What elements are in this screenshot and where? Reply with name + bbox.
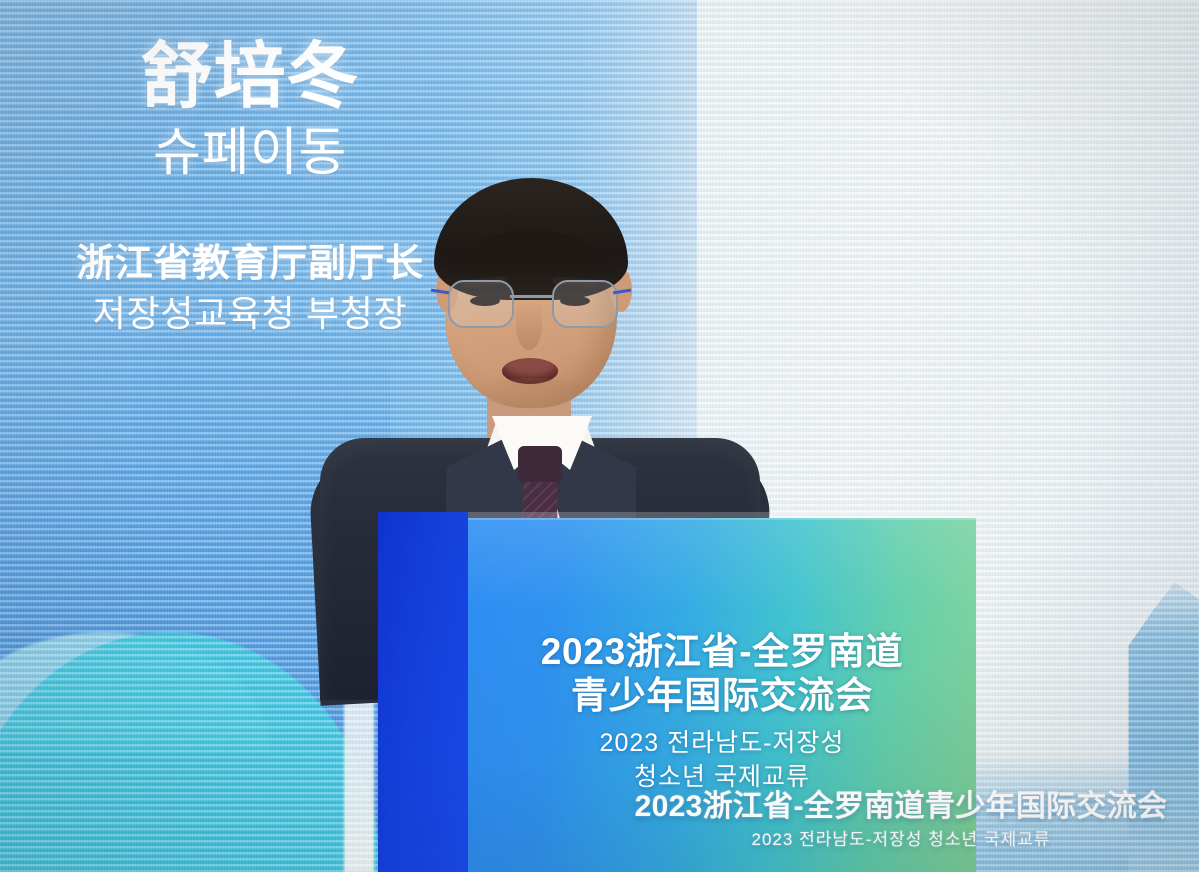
speaker-name-cn: 舒培冬	[0, 40, 500, 115]
necktie-knot	[518, 446, 562, 486]
watermark-line-cn: 2023浙江省-全罗南道青少年国际交流会	[611, 790, 1191, 825]
speaker-nose	[516, 302, 542, 350]
conference-photo: 舒培冬 슈페이동 浙江省教育厅副厅长 저장성교육청 부청장	[0, 0, 1199, 872]
eyeglass-bridge	[510, 295, 552, 298]
podium-event-title: 2023浙江省-全罗南道 青少年国际交流会 2023 전라남도-저장성 청소년 …	[468, 630, 976, 795]
podium-title-line1: 2023浙江省-全罗南道	[468, 630, 976, 674]
podium-top-edge	[468, 512, 976, 520]
watermark-line-kr: 2023 전라남도-저장성 청소년 국제교류	[611, 827, 1191, 853]
podium-title-line2: 青少年国际交流会	[468, 674, 976, 718]
speaker-figure	[330, 150, 750, 570]
eyeglass-lens-left	[448, 280, 514, 328]
eyeglass-lens-right	[552, 280, 618, 328]
event-watermark: 2023浙江省-全罗南道青少年国际交流会 2023 전라남도-저장성 청소년 국…	[611, 790, 1191, 852]
podium-title-line3: 2023 전라남도-저장성	[468, 727, 976, 761]
podium-side-panel	[378, 512, 468, 872]
